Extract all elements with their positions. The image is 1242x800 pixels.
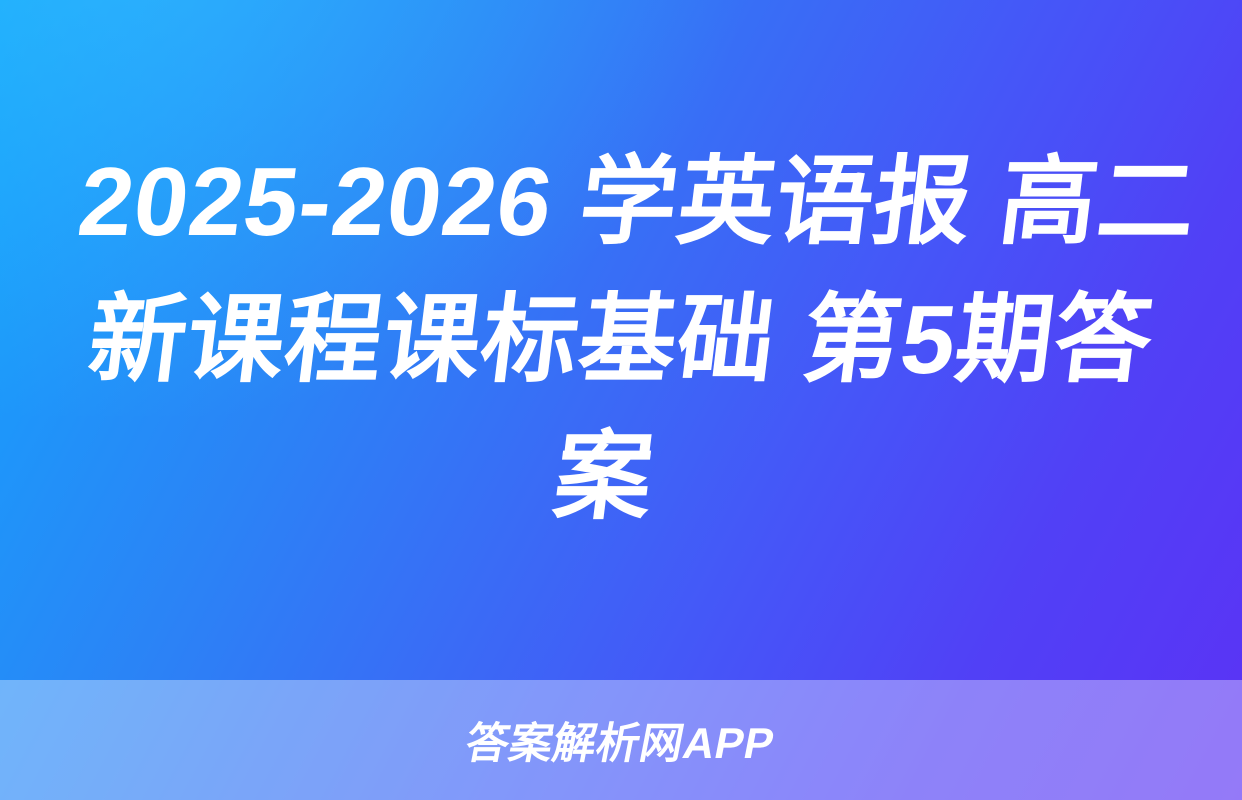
page-title: 2025-2026 学英语报 高二 新课程课标基础 第5期答案 — [37, 133, 1206, 546]
answer-banner: 2025-2026 学英语报 高二 新课程课标基础 第5期答案 答案解析网APP — [0, 0, 1242, 800]
footer-band: 答案解析网APP — [0, 680, 1242, 800]
title-area: 2025-2026 学英语报 高二 新课程课标基础 第5期答案 — [0, 0, 1242, 680]
brand-watermark: 答案解析网APP — [461, 709, 780, 771]
